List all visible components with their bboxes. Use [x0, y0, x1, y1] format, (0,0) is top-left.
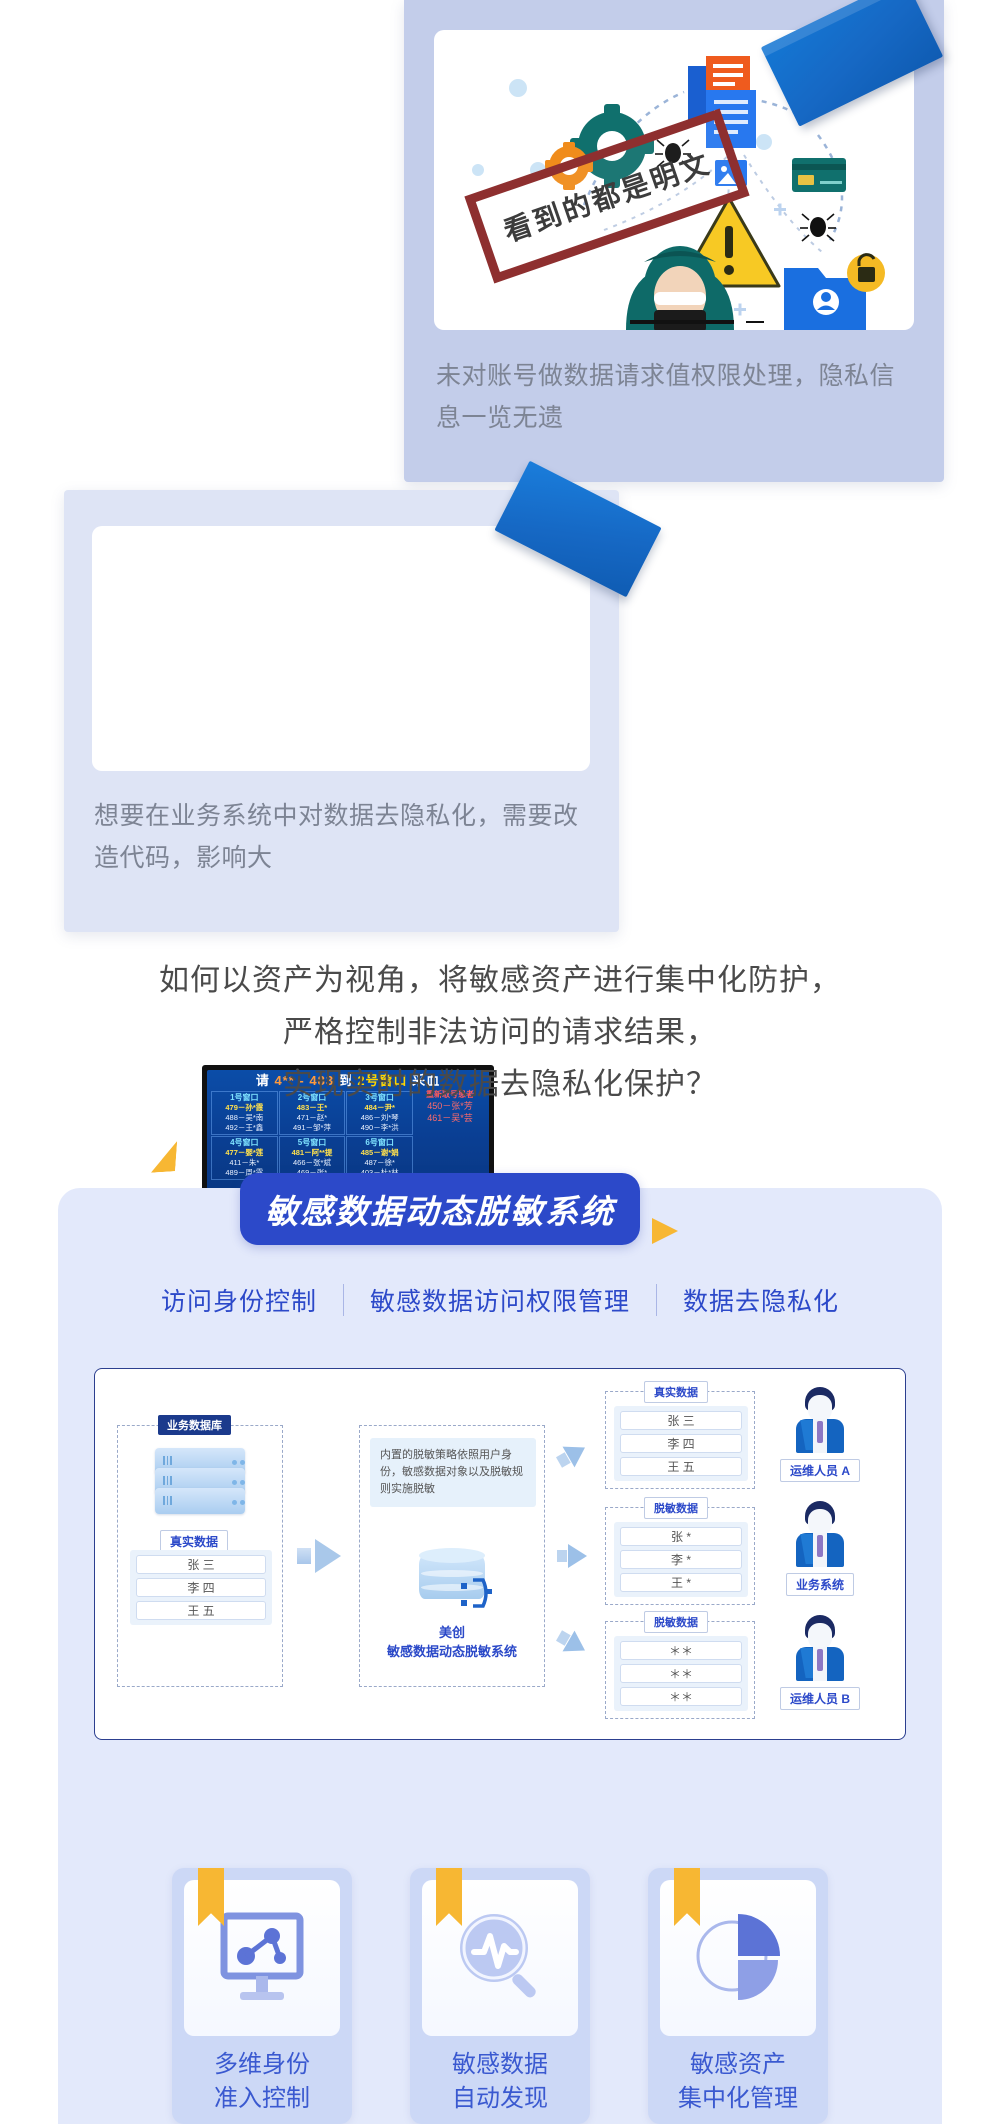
- data-row: ＊＊: [620, 1641, 742, 1660]
- output-tag: 真实数据: [644, 1381, 708, 1403]
- product-title-banner: 敏感数据动态脱敏系统: [240, 1173, 640, 1245]
- data-row: 王 *: [620, 1573, 742, 1592]
- output-group-1: 脱敏数据 张 * 李 * 王 *: [605, 1507, 755, 1605]
- data-row: 张 *: [620, 1527, 742, 1546]
- masking-engine-group: 内置的脱敏策略依照用户身份，敏感数据对象以及脱敏规则实施脱敏 美创 敏感数据动态…: [359, 1425, 545, 1687]
- nav-separator: [343, 1284, 344, 1316]
- avatar: [794, 1615, 846, 1681]
- output-group-2: 脱敏数据 ＊＊ ＊＊ ＊＊: [605, 1621, 755, 1719]
- nav-separator: [656, 1284, 657, 1316]
- masking-db-icon: [360, 1548, 544, 1606]
- feature-card-0[interactable]: 多维身份 准入控制: [172, 1868, 352, 2124]
- data-row: 李 四: [620, 1434, 742, 1453]
- accent-arrow-left-icon: [151, 1141, 177, 1173]
- actor-1: 业务系统: [775, 1501, 865, 1596]
- problem-card-2: 请 4** - 483 到 2号窗口 采血 1号窗口 479－孙*霞 488－吴…: [64, 490, 619, 932]
- nav-item-2[interactable]: 数据去隐私化: [683, 1282, 839, 1318]
- feature-card-label-0: 多维身份 准入控制: [172, 2048, 352, 2116]
- avatar: [794, 1387, 846, 1453]
- output-tag: 脱敏数据: [644, 1611, 708, 1633]
- actor-label: 运维人员 B: [780, 1687, 860, 1710]
- feature-nav: 访问身份控制 敏感数据访问权限管理 数据去隐私化: [58, 1282, 942, 1318]
- problem-caption-2: 想要在业务系统中对数据去隐私化，需要改造代码，影响大: [94, 795, 594, 879]
- feature-card-label-2: 敏感资产 集中化管理: [648, 2048, 828, 2116]
- data-row: 张 三: [136, 1555, 266, 1574]
- data-row: ＊＊: [620, 1687, 742, 1706]
- problem-card-1: 看到的都是明文 未对账号做数据请求值权限处理，隐私信息一览无遗: [404, 0, 944, 482]
- credit-card-icon: [792, 158, 846, 192]
- database-stack-icon: [118, 1448, 282, 1516]
- hospital-queue-photo: [92, 526, 590, 771]
- unlock-icon: [847, 254, 885, 292]
- feature-card-2[interactable]: 敏感资产 集中化管理: [648, 1868, 828, 2124]
- feature-card-label-1: 敏感数据 自动发现: [410, 2048, 590, 2116]
- output-rows: 张 三 李 四 王 五: [614, 1406, 748, 1481]
- source-db-tag: 业务数据库: [158, 1415, 231, 1435]
- nav-item-0[interactable]: 访问身份控制: [161, 1282, 317, 1318]
- actor-0: 运维人员 A: [775, 1387, 865, 1482]
- data-row: 王 五: [620, 1457, 742, 1476]
- actor-label: 运维人员 A: [780, 1459, 860, 1482]
- data-row: 李 四: [136, 1578, 266, 1597]
- source-db-group: 业务数据库 真实数据 张 三 李 四 王 五: [117, 1425, 283, 1687]
- engine-description: 内置的脱敏策略依照用户身份，敏感数据对象以及脱敏规则实施脱敏: [370, 1438, 536, 1507]
- question-block: 如何以资产为视角，将敏感资产进行集中化防护， 严格控制非法访问的请求结果， 实现…: [0, 955, 1000, 1111]
- output-group-0: 真实数据 张 三 李 四 王 五: [605, 1391, 755, 1489]
- actor-label: 业务系统: [786, 1573, 854, 1596]
- architecture-diagram: 业务数据库 真实数据 张 三 李 四 王 五 内置的脱敏策略依照用户身份，敏感数…: [94, 1368, 906, 1740]
- feature-card-1[interactable]: 敏感数据 自动发现: [410, 1868, 590, 2124]
- question-line-1: 如何以资产为视角，将敏感资产进行集中化防护，: [0, 955, 1000, 1007]
- avatar: [794, 1501, 846, 1567]
- output-rows: 张 * 李 * 王 *: [614, 1522, 748, 1597]
- question-line-3: 实现实时的数据去隐私化保护？: [0, 1059, 1000, 1111]
- flow-arrow-top-icon: [553, 1437, 591, 1473]
- data-row: ＊＊: [620, 1664, 742, 1683]
- problem-caption-1: 未对账号做数据请求值权限处理，隐私信息一览无遗: [436, 355, 912, 439]
- flow-arrow-icon: [297, 1539, 341, 1573]
- data-row: 王 五: [136, 1601, 266, 1620]
- nav-item-1[interactable]: 敏感数据访问权限管理: [370, 1282, 630, 1318]
- question-line-2: 严格控制非法访问的请求结果，: [0, 1007, 1000, 1059]
- source-rows: 张 三 李 四 王 五: [130, 1550, 272, 1625]
- data-row: 张 三: [620, 1411, 742, 1430]
- flow-arrow-mid-icon: [557, 1544, 587, 1568]
- data-row: 李 *: [620, 1550, 742, 1569]
- engine-brand: 美创 敏感数据动态脱敏系统: [360, 1622, 544, 1660]
- actor-2: 运维人员 B: [775, 1615, 865, 1710]
- flow-arrow-bottom-icon: [553, 1625, 591, 1661]
- output-tag: 脱敏数据: [644, 1497, 708, 1519]
- mask-node-icon: [459, 1576, 493, 1610]
- accent-arrow-right-icon: [652, 1218, 678, 1244]
- output-rows: ＊＊ ＊＊ ＊＊: [614, 1636, 748, 1711]
- feature-cards: 多维身份 准入控制 敏感数据 自动发现 敏: [58, 1868, 942, 2124]
